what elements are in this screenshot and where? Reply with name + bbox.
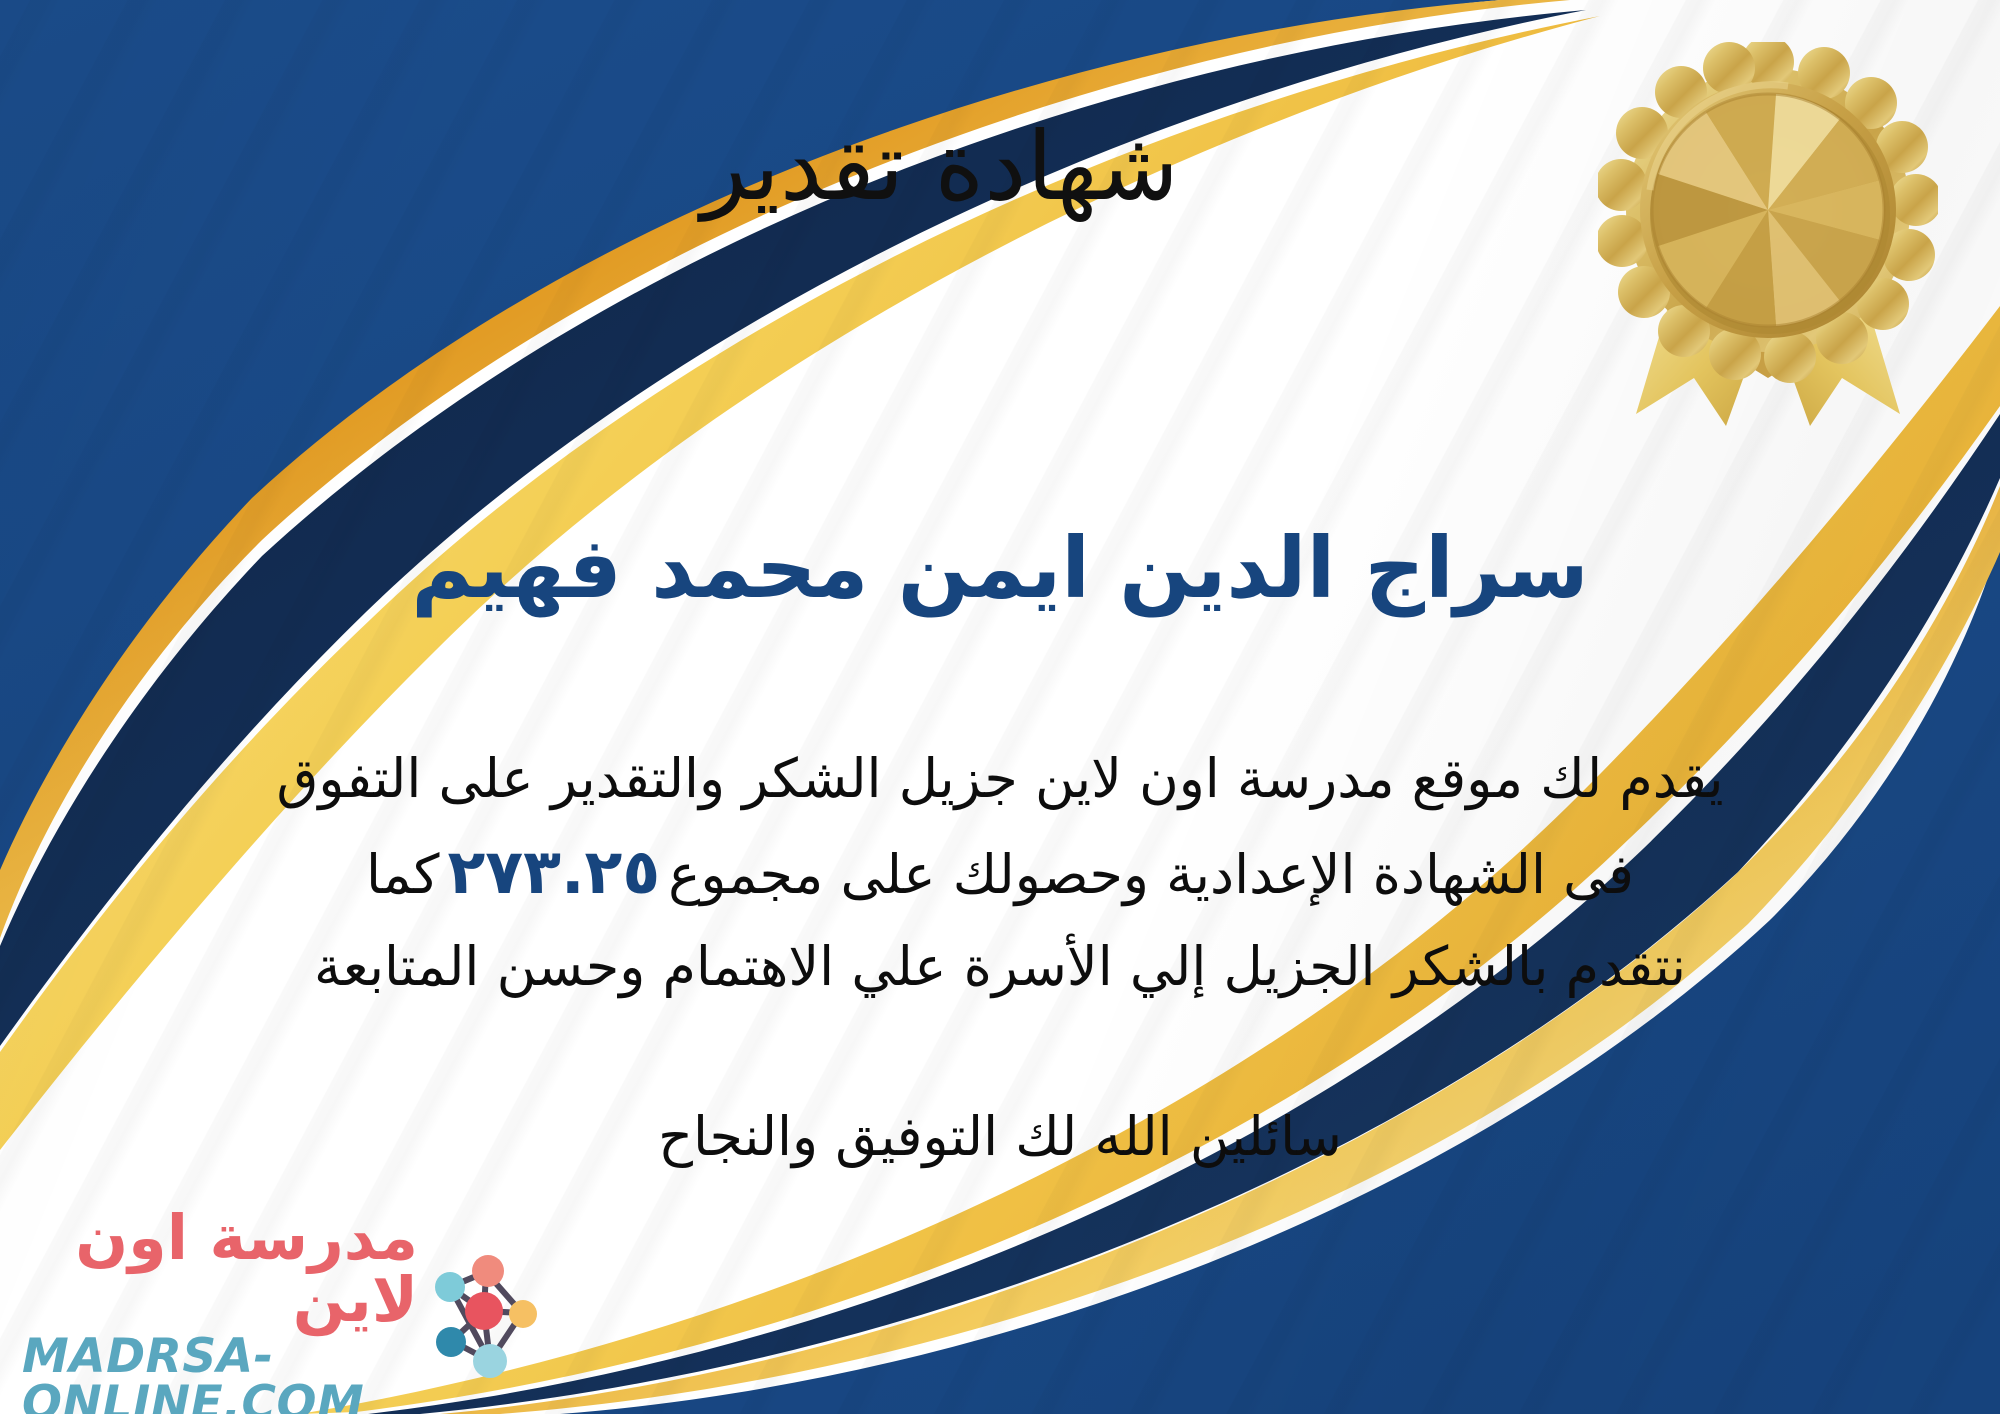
logo-domain: MADRSA-ONLINE.COM	[22, 1333, 418, 1414]
node-right	[509, 1300, 537, 1328]
closing-line: سائلين الله لك التوفيق والنجاح	[0, 1105, 2000, 1168]
node-center	[465, 1292, 503, 1330]
logo-arabic-name: مدرسة اون لاين	[22, 1207, 418, 1331]
body-line-2-suffix: كما	[366, 843, 439, 906]
body-line-1: يقدم لك موقع مدرسة اون لاين جزيل الشكر و…	[130, 735, 1870, 822]
body-line-2: فى الشهادة الإعدادية وحصولك على مجموع٢٧٣…	[130, 822, 1870, 922]
page-title: شهادة تقدير	[620, 118, 1260, 218]
body-line-2-text: فى الشهادة الإعدادية وحصولك على مجموع	[668, 843, 1634, 906]
node-bottom-left	[436, 1327, 466, 1357]
brand-logo[interactable]: مدرسة اون لاين MADRSA-ONLINE.COM	[22, 1242, 542, 1392]
grade-value: ٢٧٣.٢٥	[439, 835, 668, 908]
certificate-page: شهادة تقدير سراج الدين ايمن محمد فهيم يق…	[0, 0, 2000, 1414]
node-top-left	[435, 1272, 465, 1302]
body-line-3: نتقدم بالشكر الجزيل إلي الأسرة علي الاهت…	[130, 923, 1870, 1010]
certificate-body: يقدم لك موقع مدرسة اون لاين جزيل الشكر و…	[130, 735, 1870, 1010]
node-top	[472, 1255, 504, 1287]
recipient-name: سراج الدين ايمن محمد فهيم	[0, 520, 2000, 617]
node-bottom	[473, 1344, 507, 1378]
network-nodes-icon	[424, 1253, 542, 1381]
logo-text-block: مدرسة اون لاين MADRSA-ONLINE.COM	[22, 1207, 418, 1414]
